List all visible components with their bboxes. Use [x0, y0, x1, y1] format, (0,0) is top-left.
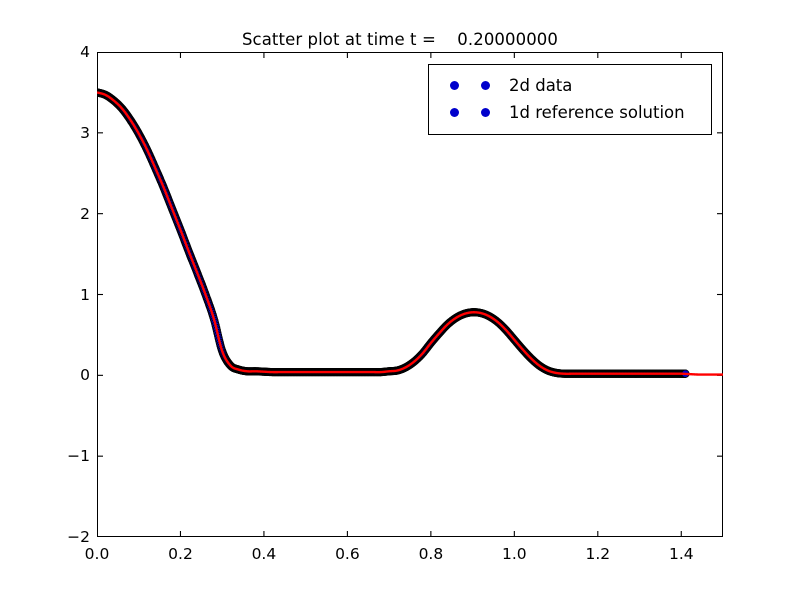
legend-item-2d-data: 2d data [439, 72, 701, 99]
y-tick-label: 0 [80, 366, 90, 384]
x-tick-label: 1.2 [585, 545, 610, 563]
x-axis-tick-labels: 0.00.20.40.60.81.01.21.4 [97, 545, 723, 567]
legend-marker-group-1 [439, 108, 501, 117]
legend-dot-icon [481, 81, 490, 90]
x-tick-label: 0.4 [252, 545, 277, 563]
legend-dot-icon [450, 108, 459, 117]
y-tick-label: 1 [80, 286, 90, 304]
x-tick-label: 0.2 [168, 545, 193, 563]
y-tick-label: −1 [67, 447, 90, 465]
legend-label: 1d reference solution [501, 103, 685, 122]
page-title: Scatter plot at time t = 0.20000000 [0, 30, 800, 49]
y-tick-label: 3 [80, 124, 90, 142]
legend-marker-group-0 [439, 81, 501, 90]
y-tick-label: −2 [67, 528, 90, 546]
y-tick-label: 2 [80, 205, 90, 223]
legend-label: 2d data [501, 76, 572, 95]
x-tick-label: 1.4 [669, 545, 694, 563]
legend-item-1d-reference-solution: 1d reference solution [439, 99, 701, 126]
y-tick-label: 4 [80, 43, 90, 61]
x-tick-label: 0.0 [85, 545, 110, 563]
legend-dot-icon [450, 81, 459, 90]
y-axis-tick-labels: −2−101234 [57, 52, 90, 537]
legend-dot-icon [481, 108, 490, 117]
x-tick-label: 0.8 [419, 545, 444, 563]
x-tick-label: 1.0 [502, 545, 527, 563]
x-tick-label: 0.6 [335, 545, 360, 563]
chart-legend: 2d data 1d reference solution [428, 64, 712, 135]
matplotlib-figure: Scatter plot at time t = 0.20000000 −2−1… [0, 0, 800, 600]
